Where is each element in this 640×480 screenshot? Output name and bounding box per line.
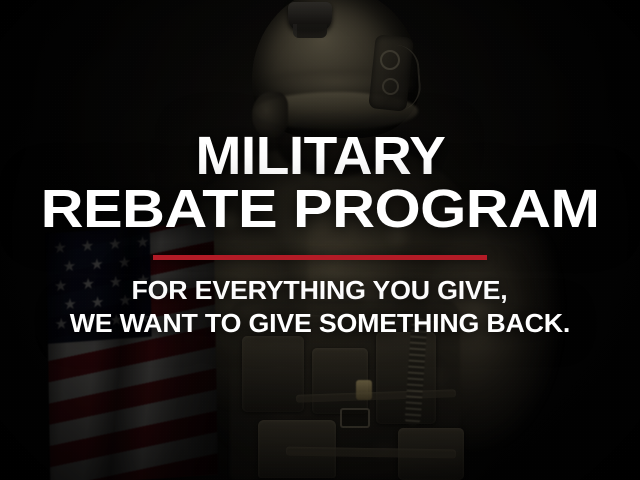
- red-divider-rule: [153, 255, 487, 260]
- subtitle-line-1: FOR EVERYTHING YOU GIVE,: [132, 276, 508, 306]
- headline-line-2: REBATE PROGRAM: [41, 184, 600, 235]
- subtitle-line-2: WE WANT TO GIVE SOMETHING BACK.: [70, 309, 570, 339]
- military-rebate-poster: ★ ★ ★ ★ ★ ★ ★ ★ ★ ★ ★ ★ ★ ★ ★ ★ ★ ★ MILI…: [0, 0, 640, 480]
- headline-line-1: MILITARY: [195, 131, 445, 182]
- text-overlay: MILITARY REBATE PROGRAM FOR EVERYTHING Y…: [0, 0, 640, 480]
